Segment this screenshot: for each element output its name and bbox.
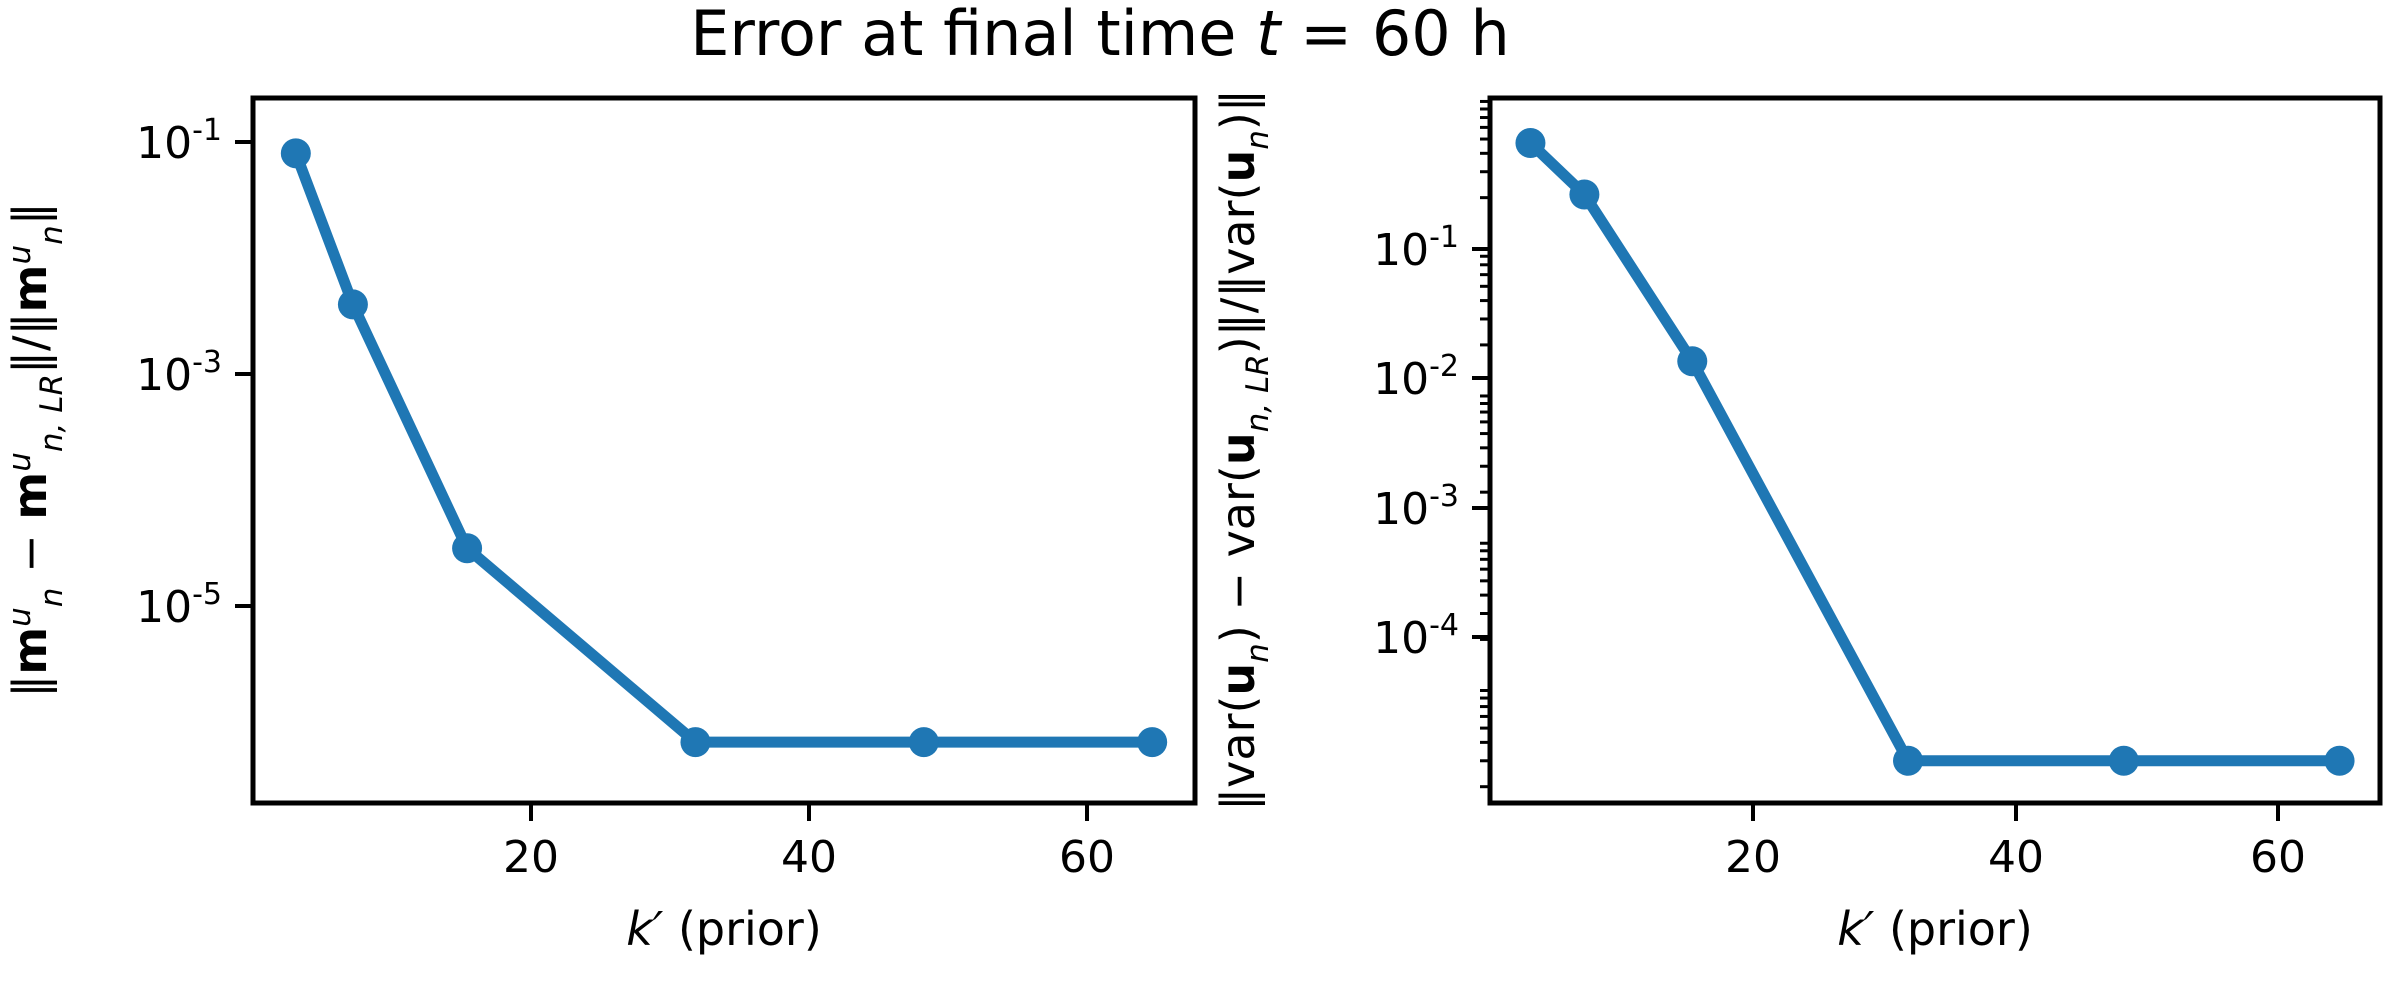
right-panel: 10-1 10-2 10-3 10-4 20 [1211, 89, 2380, 956]
data-point [281, 138, 311, 168]
left-data-line [296, 153, 1152, 742]
right-x-ticks: 20 40 60 [1725, 803, 2306, 883]
data-point [1515, 128, 1545, 158]
data-point [1137, 727, 1167, 757]
left-y-ticks: 10-1 10-3 10-5 [136, 113, 253, 633]
left-axes-frame [253, 98, 1195, 803]
data-point [680, 727, 710, 757]
matplotlib-figure: Error at final time t = 60 h 10-1 10-3 1… [0, 0, 2400, 1000]
data-point [452, 533, 482, 563]
right-x-axis-label: k′ (prior) [1837, 902, 2033, 956]
right-series-group [1515, 128, 2354, 776]
right-y-axis-label: ‖var(un) − var(un, LR)‖/‖var(un)‖ [1211, 89, 1276, 811]
left-y-axis-label: ‖mun − mun, LR‖/‖mun‖ [2, 202, 70, 698]
right-y-ticks: 10-1 10-2 10-3 10-4 [1373, 220, 1490, 664]
right-ytick-label-0: 10-1 [1373, 220, 1459, 276]
figure-canvas: Error at final time t = 60 h 10-1 10-3 1… [0, 0, 2400, 1000]
title-equation: = 60 [1280, 0, 1450, 70]
left-data-markers [281, 138, 1167, 757]
right-data-markers [1515, 128, 2354, 776]
left-series-group [281, 138, 1167, 757]
right-ytick-label-2: 10-3 [1373, 479, 1459, 535]
left-ytick-label-2: 10-5 [136, 577, 222, 633]
data-point [2325, 746, 2355, 776]
title-variable-t: t [1256, 0, 1283, 70]
left-ytick-label-1: 10-3 [136, 345, 222, 401]
data-point [2109, 746, 2139, 776]
data-point [1569, 180, 1599, 210]
right-xtick-label-1: 40 [1988, 832, 2044, 883]
left-panel: 10-1 10-3 10-5 20 40 60 [2, 98, 1195, 956]
right-data-line [1530, 143, 2339, 761]
right-xtick-label-2: 60 [2250, 832, 2306, 883]
data-point [1677, 346, 1707, 376]
left-xtick-label-1: 40 [781, 832, 837, 883]
right-ytick-label-1: 10-2 [1373, 349, 1459, 405]
data-point [1893, 746, 1923, 776]
svg-text:Error at final time t = 60 h: Error at final time t = 60 h [690, 0, 1510, 70]
left-x-axis-label: k′ (prior) [626, 902, 822, 956]
right-axes-frame [1490, 98, 2380, 803]
left-xtick-label-0: 20 [503, 832, 559, 883]
data-point [338, 289, 368, 319]
left-ytick-label-0: 10-1 [136, 113, 222, 169]
right-xtick-label-0: 20 [1725, 832, 1781, 883]
left-xtick-label-2: 60 [1059, 832, 1115, 883]
right-ytick-label-3: 10-4 [1373, 608, 1459, 664]
figure-title: Error at final time t = 60 h [690, 0, 1510, 70]
title-prefix: Error at final time [690, 0, 1256, 70]
data-point [909, 727, 939, 757]
title-unit: h [1451, 0, 1510, 70]
left-x-ticks: 20 40 60 [503, 803, 1115, 883]
